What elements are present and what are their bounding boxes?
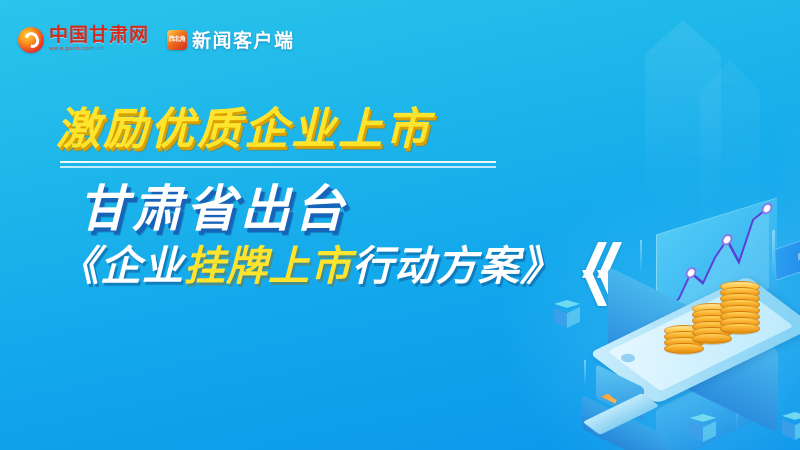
background-tower-shape <box>645 20 721 220</box>
decor-tick <box>584 360 586 386</box>
illustration: 财交易方案 <box>560 200 800 450</box>
seal-text: 西北角 <box>169 37 186 43</box>
header-logos: 中国甘肃网 www.gscn.com.cn 西北角 新闻客户端 <box>18 26 295 53</box>
logo-news-client[interactable]: 西北角 新闻客户端 <box>167 26 295 53</box>
headline-line-3-part-1: 企业 <box>100 242 184 290</box>
headline-line-3-part-3: 行动方案 <box>352 242 520 290</box>
isometric-laptop <box>588 376 660 432</box>
headline-line-1: 激励优质企业上市 <box>56 106 656 154</box>
decor-tick <box>640 240 642 274</box>
coin-stack-large <box>720 286 760 334</box>
floating-cube <box>690 414 716 444</box>
bracket-close: 》 <box>520 242 562 290</box>
logo-gscn-text: 中国甘肃网 www.gscn.com.cn <box>49 26 149 53</box>
divider-line-bottom <box>60 166 496 168</box>
logo-gscn-url: www.gscn.com.cn <box>49 47 149 53</box>
plan-sign: 财交易方案 <box>774 219 800 281</box>
bracket-open: 《 <box>58 242 100 290</box>
logo-gscn-name: 中国甘肃网 <box>49 26 149 45</box>
logo-news-client-name: 新闻客户端 <box>192 26 295 53</box>
spiral-g-icon <box>18 27 44 53</box>
logo-gscn[interactable]: 中国甘肃网 www.gscn.com.cn <box>18 26 149 53</box>
headline-divider <box>60 161 496 168</box>
gold-coin-stacks <box>664 278 772 354</box>
floating-cube <box>554 300 580 330</box>
floating-cube <box>782 412 800 442</box>
seal-icon: 西北角 <box>167 30 187 50</box>
divider-line-top <box>60 161 496 163</box>
banner: 中国甘肃网 www.gscn.com.cn 西北角 新闻客户端 激励优质企业上市… <box>0 0 800 450</box>
headline-line-3-part-2: 挂牌上市 <box>184 242 352 290</box>
